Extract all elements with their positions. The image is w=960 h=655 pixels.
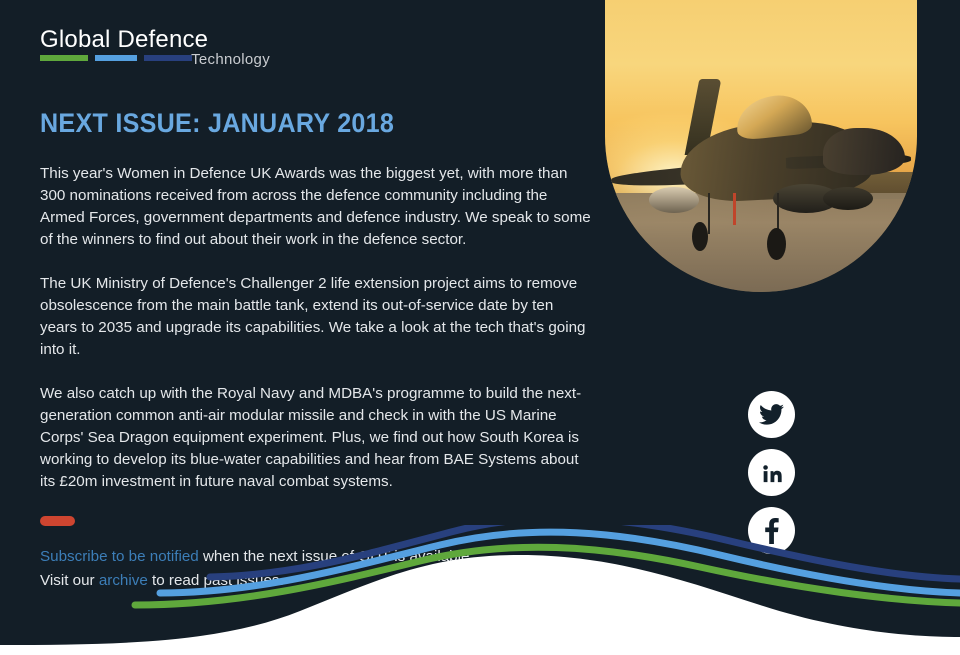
- runway-marker: [733, 193, 736, 225]
- paragraph-3: We also catch up with the Royal Navy and…: [40, 383, 592, 493]
- newsletter-page: Global Defence Technology NEXT ISSUE: JA…: [0, 0, 960, 655]
- hero-image: [605, 0, 917, 292]
- logo-primary-text: Global Defence: [40, 27, 270, 52]
- body-copy: This year's Women in Defence UK Awards w…: [40, 163, 592, 493]
- wave-decoration: [0, 525, 960, 655]
- paragraph-2: The UK Ministry of Defence's Challenger …: [40, 273, 592, 361]
- linkedin-icon: [761, 462, 783, 484]
- landing-gear-main-wheel: [767, 228, 786, 260]
- logo-bar-green: [40, 55, 88, 61]
- brand-logo[interactable]: Global Defence Technology: [40, 27, 270, 61]
- landing-gear-strut-front: [708, 193, 710, 234]
- twitter-icon: [759, 404, 784, 425]
- social-link-twitter[interactable]: [748, 391, 795, 438]
- page-title: NEXT ISSUE: JANUARY 2018: [40, 108, 394, 139]
- fighter-jet-photo: [605, 0, 917, 292]
- logo-bar-light-blue: [95, 55, 137, 61]
- jet-canopy: [734, 93, 813, 141]
- logo-bar-dark-blue: [144, 55, 192, 61]
- landing-gear-nose-wheel: [692, 222, 708, 251]
- logo-secondary-text: Technology: [191, 51, 270, 68]
- jet-nose: [823, 128, 904, 175]
- runway-ground: [605, 193, 917, 292]
- social-link-linkedin[interactable]: [748, 449, 795, 496]
- jet-fuel-tank-left: [649, 187, 699, 213]
- paragraph-1: This year's Women in Defence UK Awards w…: [40, 163, 592, 251]
